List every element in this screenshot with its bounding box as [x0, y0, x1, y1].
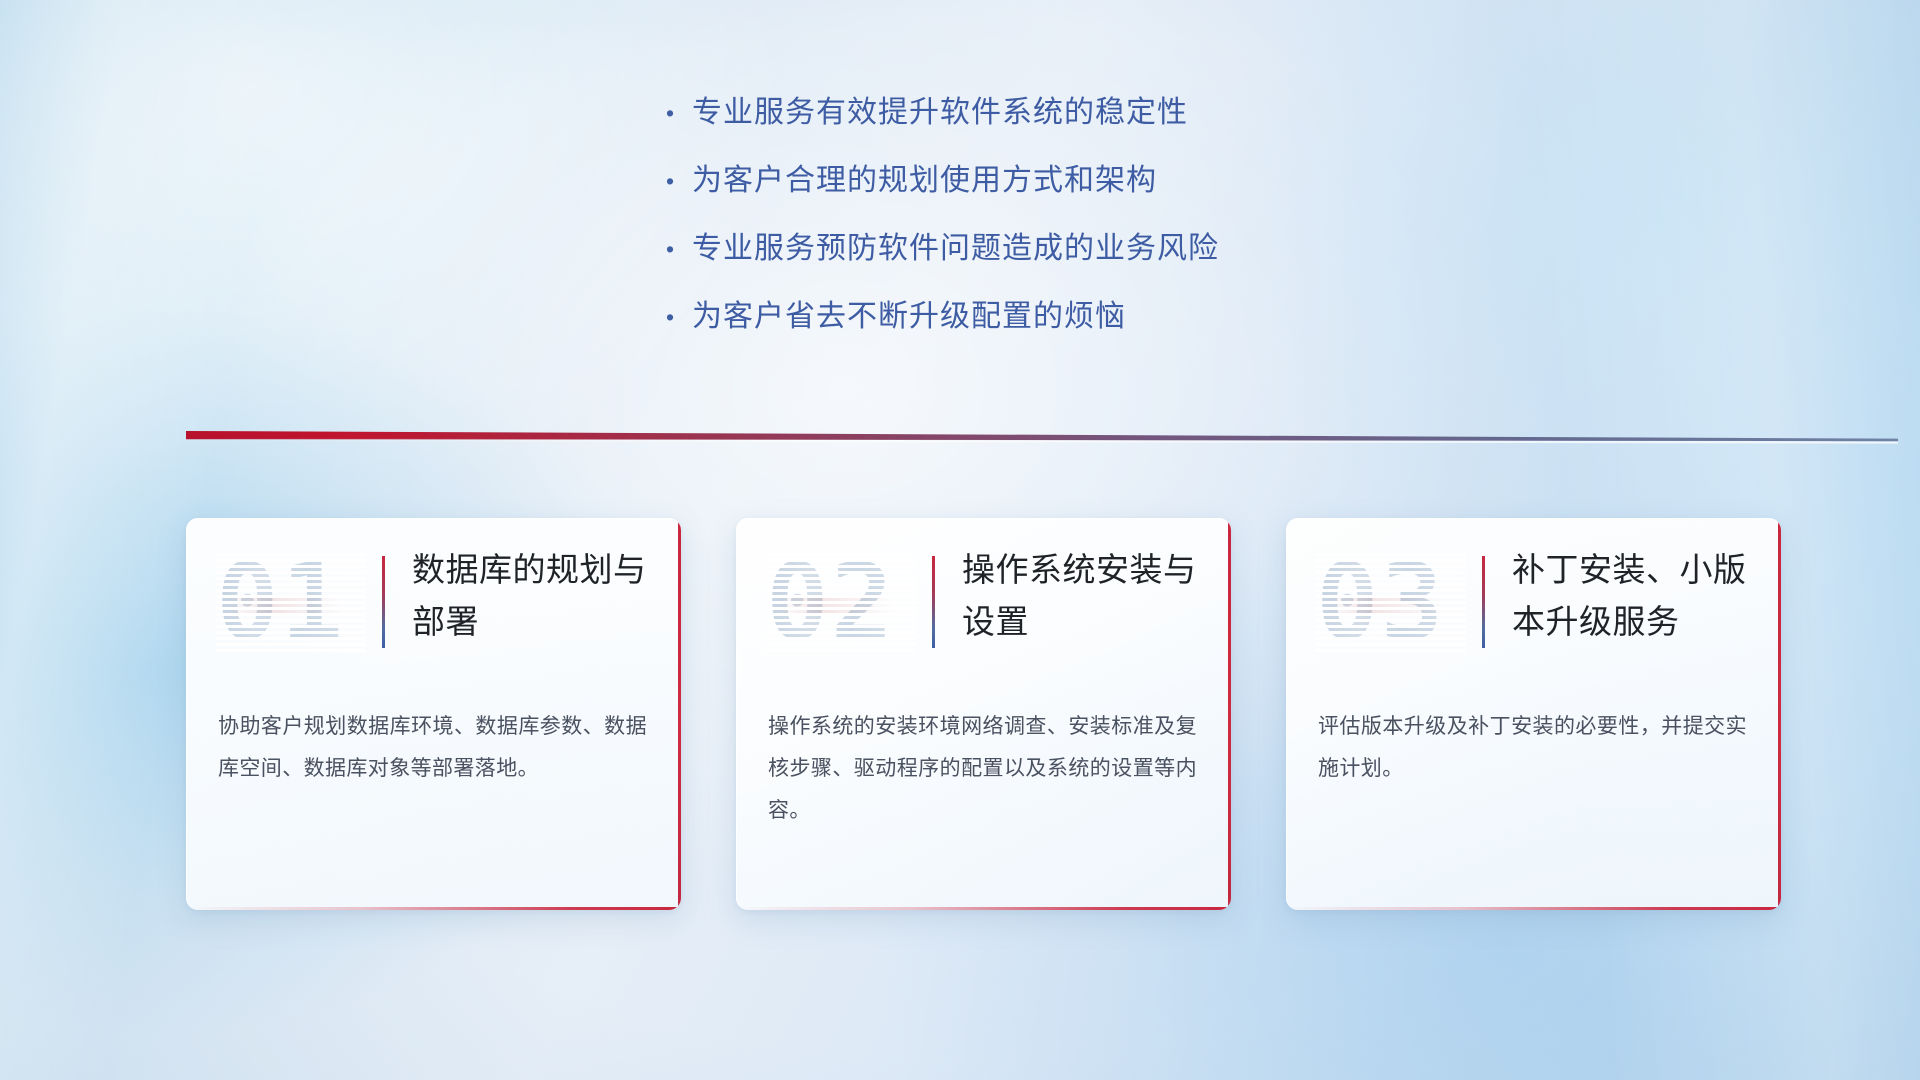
card-number-text: 01: [216, 550, 366, 654]
card-accent-bar: [382, 556, 385, 648]
card-number-text: 02: [766, 550, 916, 654]
card-body-text: 操作系统的安装环境网络调查、安装标准及复核步骤、驱动程序的配置以及系统的设置等内…: [768, 706, 1197, 832]
bullet-text: 专业服务预防软件问题造成的业务风险: [692, 228, 1219, 270]
service-cards: 01 数据库的规划与部署 协助客户规划数据库环境、数据库参数、数据库空间、数据库…: [0, 518, 1920, 938]
list-item: • 专业服务预防软件问题造成的业务风险: [666, 228, 1486, 270]
service-card[interactable]: 03 补丁安装、小版本升级服务 评估版本升级及补丁安装的必要性，并提交实施计划。: [1286, 518, 1781, 910]
card-header: 01 数据库的规划与部署: [186, 518, 681, 686]
bullet-text: 为客户合理的规划使用方式和架构: [692, 160, 1157, 202]
card-accent-bar: [1482, 556, 1485, 648]
bullet-text: 为客户省去不断升级配置的烦恼: [692, 296, 1126, 338]
card-accent-bar: [932, 556, 935, 648]
bullet-dot-icon: •: [666, 296, 692, 338]
card-title: 补丁安装、小版本升级服务: [1512, 544, 1762, 648]
service-card[interactable]: 02 操作系统安装与设置 操作系统的安装环境网络调查、安装标准及复核步骤、驱动程…: [736, 518, 1231, 910]
list-item: • 为客户省去不断升级配置的烦恼: [666, 296, 1486, 338]
card-header: 03 补丁安装、小版本升级服务: [1286, 518, 1781, 686]
card-number-text: 03: [1316, 550, 1466, 654]
card-body-text: 评估版本升级及补丁安装的必要性，并提交实施计划。: [1318, 706, 1747, 790]
list-item: • 专业服务有效提升软件系统的稳定性: [666, 92, 1486, 134]
benefits-bullet-list: • 专业服务有效提升软件系统的稳定性 • 为客户合理的规划使用方式和架构 • 专…: [666, 92, 1486, 364]
card-header: 02 操作系统安装与设置: [736, 518, 1231, 686]
bullet-dot-icon: •: [666, 92, 692, 134]
bullet-dot-icon: •: [666, 228, 692, 270]
card-body-text: 协助客户规划数据库环境、数据库参数、数据库空间、数据库对象等部署落地。: [218, 706, 647, 790]
card-bottom-accent-edge: [1286, 907, 1781, 910]
card-number-watermark: 03: [1316, 550, 1466, 654]
card-right-accent-edge: [678, 518, 681, 910]
list-item: • 为客户合理的规划使用方式和架构: [666, 160, 1486, 202]
bullet-text: 专业服务有效提升软件系统的稳定性: [692, 92, 1188, 134]
card-title: 数据库的规划与部署: [412, 544, 662, 648]
service-card[interactable]: 01 数据库的规划与部署 协助客户规划数据库环境、数据库参数、数据库空间、数据库…: [186, 518, 681, 910]
card-title: 操作系统安装与设置: [962, 544, 1212, 648]
bullet-dot-icon: •: [666, 160, 692, 202]
card-right-accent-edge: [1228, 518, 1231, 910]
card-number-watermark: 01: [216, 550, 366, 654]
card-right-accent-edge: [1778, 518, 1781, 910]
card-number-watermark: 02: [766, 550, 916, 654]
card-bottom-accent-edge: [186, 907, 681, 910]
divider-shape-icon: [186, 430, 1898, 446]
section-divider: [186, 430, 1898, 446]
card-bottom-accent-edge: [736, 907, 1231, 910]
